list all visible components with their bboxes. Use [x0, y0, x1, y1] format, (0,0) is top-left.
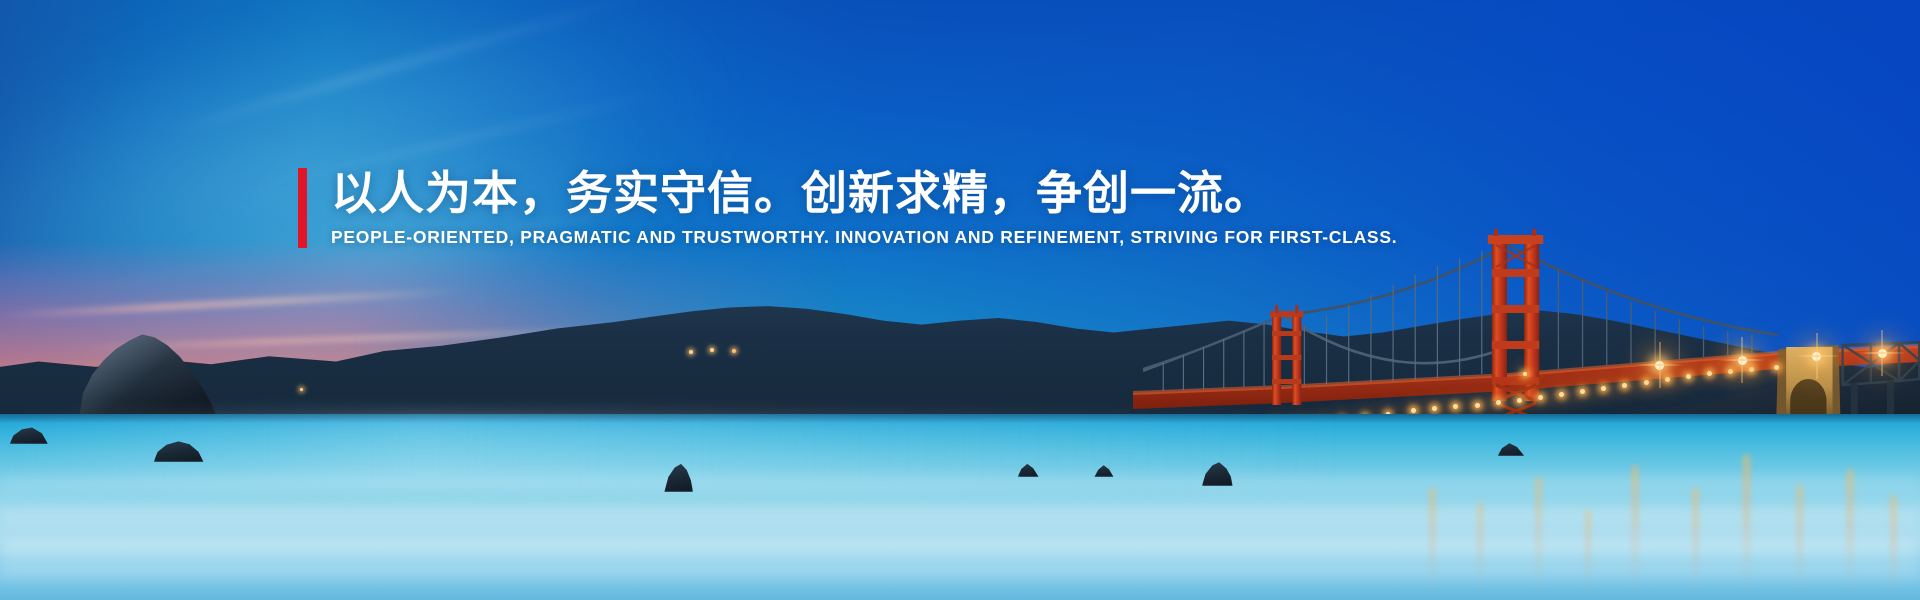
tower-beacon-icon	[1523, 372, 1527, 376]
light-reflection	[1891, 496, 1896, 600]
bridge-lamp-icon	[1738, 356, 1747, 365]
light-reflection	[1478, 503, 1482, 600]
light-reflection	[1743, 455, 1750, 600]
ridge-light-icon	[732, 349, 736, 353]
bridge-lamp-icon	[1878, 349, 1887, 358]
bridge-deck-light-icon	[1644, 380, 1649, 385]
banner-text-lines: 以人为本，务实守信。创新求精，争创一流。 PEOPLE-ORIENTED, PR…	[331, 168, 1397, 248]
bridge-deck-light-icon	[1749, 367, 1754, 372]
hero-banner: 以人为本，务实守信。创新求精，争创一流。 PEOPLE-ORIENTED, PR…	[0, 0, 1920, 600]
banner-subheadline: PEOPLE-ORIENTED, PRAGMATIC AND TRUSTWORT…	[331, 227, 1397, 248]
water-surface	[0, 414, 1920, 600]
bridge-lamp-icon	[1655, 361, 1664, 370]
light-reflection	[1586, 511, 1590, 600]
light-reflection	[1797, 485, 1802, 600]
accent-bar	[298, 168, 307, 248]
light-reflection	[1430, 488, 1435, 600]
light-reflection	[1536, 477, 1541, 600]
bridge-deck-light-icon	[1728, 369, 1733, 374]
bridge-deck-light-icon	[1475, 403, 1480, 408]
light-reflection	[1693, 488, 1698, 600]
banner-text-block: 以人为本，务实守信。创新求精，争创一流。 PEOPLE-ORIENTED, PR…	[298, 168, 1397, 248]
light-reflection	[1847, 470, 1853, 600]
bridge-deck-light-icon	[1774, 365, 1779, 370]
bridge-deck-light-icon	[1517, 398, 1522, 403]
bridge-deck-light-icon	[1496, 400, 1501, 405]
ridge-light-icon	[300, 388, 303, 391]
light-reflection	[1632, 466, 1638, 600]
banner-headline: 以人为本，务实守信。创新求精，争创一流。	[331, 168, 1397, 220]
